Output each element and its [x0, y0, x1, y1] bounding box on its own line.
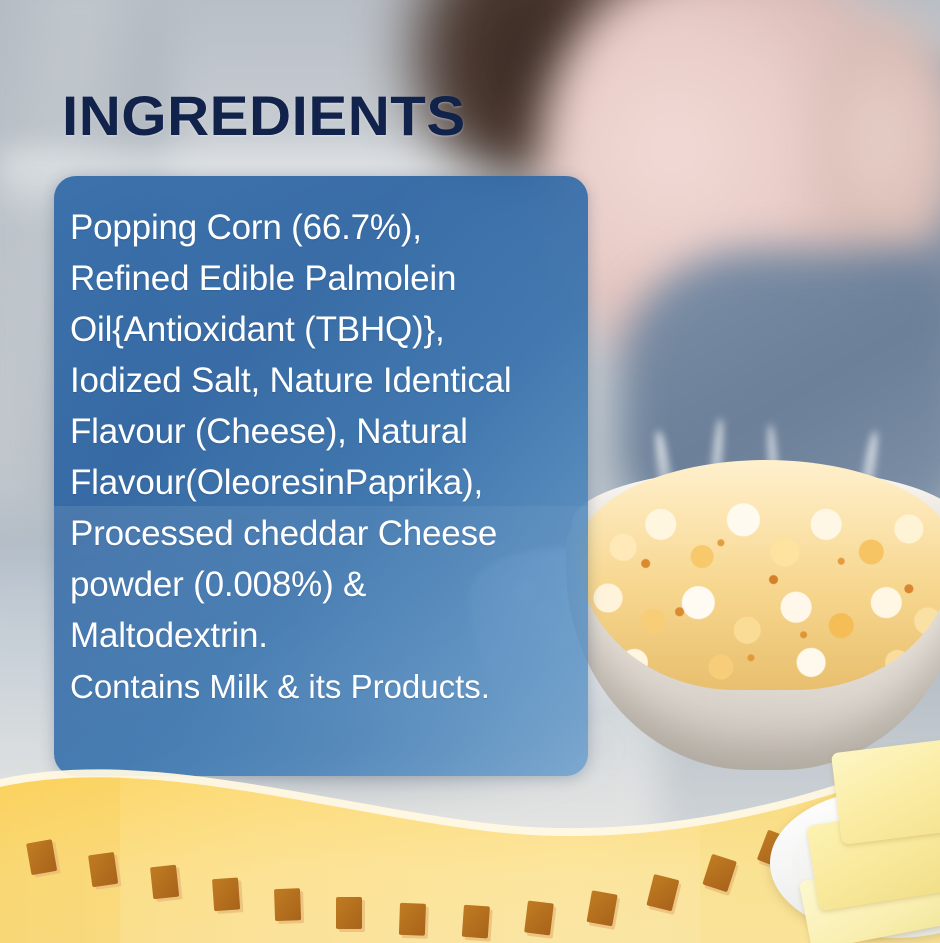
butter-block: [831, 735, 940, 845]
popcorn-pile: [578, 460, 940, 690]
page-title: INGREDIENTS: [62, 88, 466, 144]
ingredients-panel: Popping Corn (66.7%), Refined Edible Pal…: [54, 176, 588, 776]
ingredients-list-text: Popping Corn (66.7%), Refined Edible Pal…: [54, 176, 588, 661]
cheese-speckles: [578, 460, 940, 690]
popcorn-bowl: [566, 440, 940, 770]
poster-canvas: INGREDIENTS Popping Corn (66.7%), Refine…: [0, 0, 940, 943]
allergen-note: Contains Milk & its Products.: [54, 661, 588, 712]
